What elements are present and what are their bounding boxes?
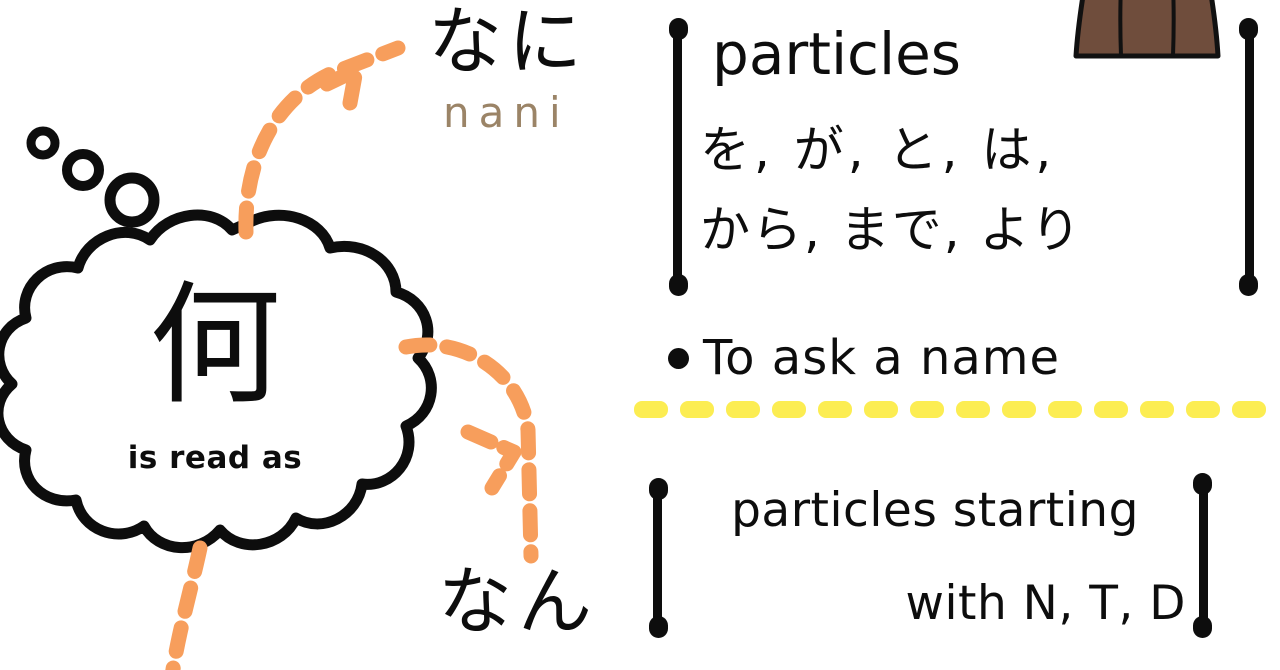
kana-label-nani: なに <box>428 5 588 79</box>
bullet-row: To ask a name <box>668 333 1060 383</box>
bullet-dot-icon <box>668 348 689 369</box>
kana-label-nan: なん <box>438 565 598 639</box>
divider-dash <box>634 401 668 418</box>
bracket-bar <box>673 23 682 291</box>
bracket-cap-bottom <box>649 616 668 638</box>
divider-dash <box>1094 401 1128 418</box>
divider-dash <box>1048 401 1082 418</box>
bracket-cap-top <box>1193 473 1212 495</box>
divider-dash <box>1232 401 1266 418</box>
yellow-dashed-divider <box>634 401 1280 418</box>
bracket-cap-top <box>669 18 688 40</box>
bracket-cap-bottom <box>1239 274 1258 296</box>
cloud-caption: is read as <box>70 440 360 476</box>
character-illustration-fragment <box>1050 0 1240 59</box>
infographic-canvas: 何 is read as なに nani particles を, が, と, … <box>0 0 1280 670</box>
particles-heading: particles <box>712 25 961 83</box>
bracket-cap-bottom <box>1193 616 1212 638</box>
arrow-cloud-tail-down <box>172 548 200 670</box>
romaji-label-nani: nani <box>443 92 570 134</box>
thought-bubble-dots <box>20 118 190 228</box>
nan-description-line-2: with N, T, D <box>676 580 1194 627</box>
thought-dot-large <box>110 178 154 222</box>
divider-dash <box>1186 401 1220 418</box>
bracket-bar <box>1199 478 1208 633</box>
divider-dash <box>956 401 990 418</box>
divider-dash <box>864 401 898 418</box>
thought-dot-medium <box>67 154 99 186</box>
particles-list-line-2: から, まで, より <box>700 205 1240 255</box>
collar-fold-right <box>1172 0 1174 56</box>
bracket-left-nani <box>665 18 691 296</box>
divider-dash <box>772 401 806 418</box>
bracket-cap-top <box>1239 18 1258 40</box>
collar-fold-left <box>1120 0 1122 56</box>
kanji-nani: 何 <box>100 280 330 412</box>
bracket-cap-top <box>649 478 668 500</box>
bracket-cap-bottom <box>669 274 688 296</box>
arrowhead-nan <box>468 432 514 488</box>
bullet-text: To ask a name <box>703 333 1060 383</box>
arrowhead-nani <box>327 70 356 103</box>
bracket-bar <box>653 483 662 633</box>
divider-dash <box>818 401 852 418</box>
divider-dash <box>680 401 714 418</box>
collar-shape <box>1076 0 1218 56</box>
thought-dot-small <box>31 131 55 155</box>
bracket-left-nan <box>645 478 671 638</box>
divider-dash <box>910 401 944 418</box>
divider-dash <box>1002 401 1036 418</box>
bracket-bar <box>1245 23 1254 291</box>
nan-description-line-1: particles starting <box>676 487 1194 534</box>
divider-dash <box>1140 401 1174 418</box>
divider-dash <box>726 401 760 418</box>
particles-list-line-1: を, が, と, は, <box>700 125 1240 175</box>
